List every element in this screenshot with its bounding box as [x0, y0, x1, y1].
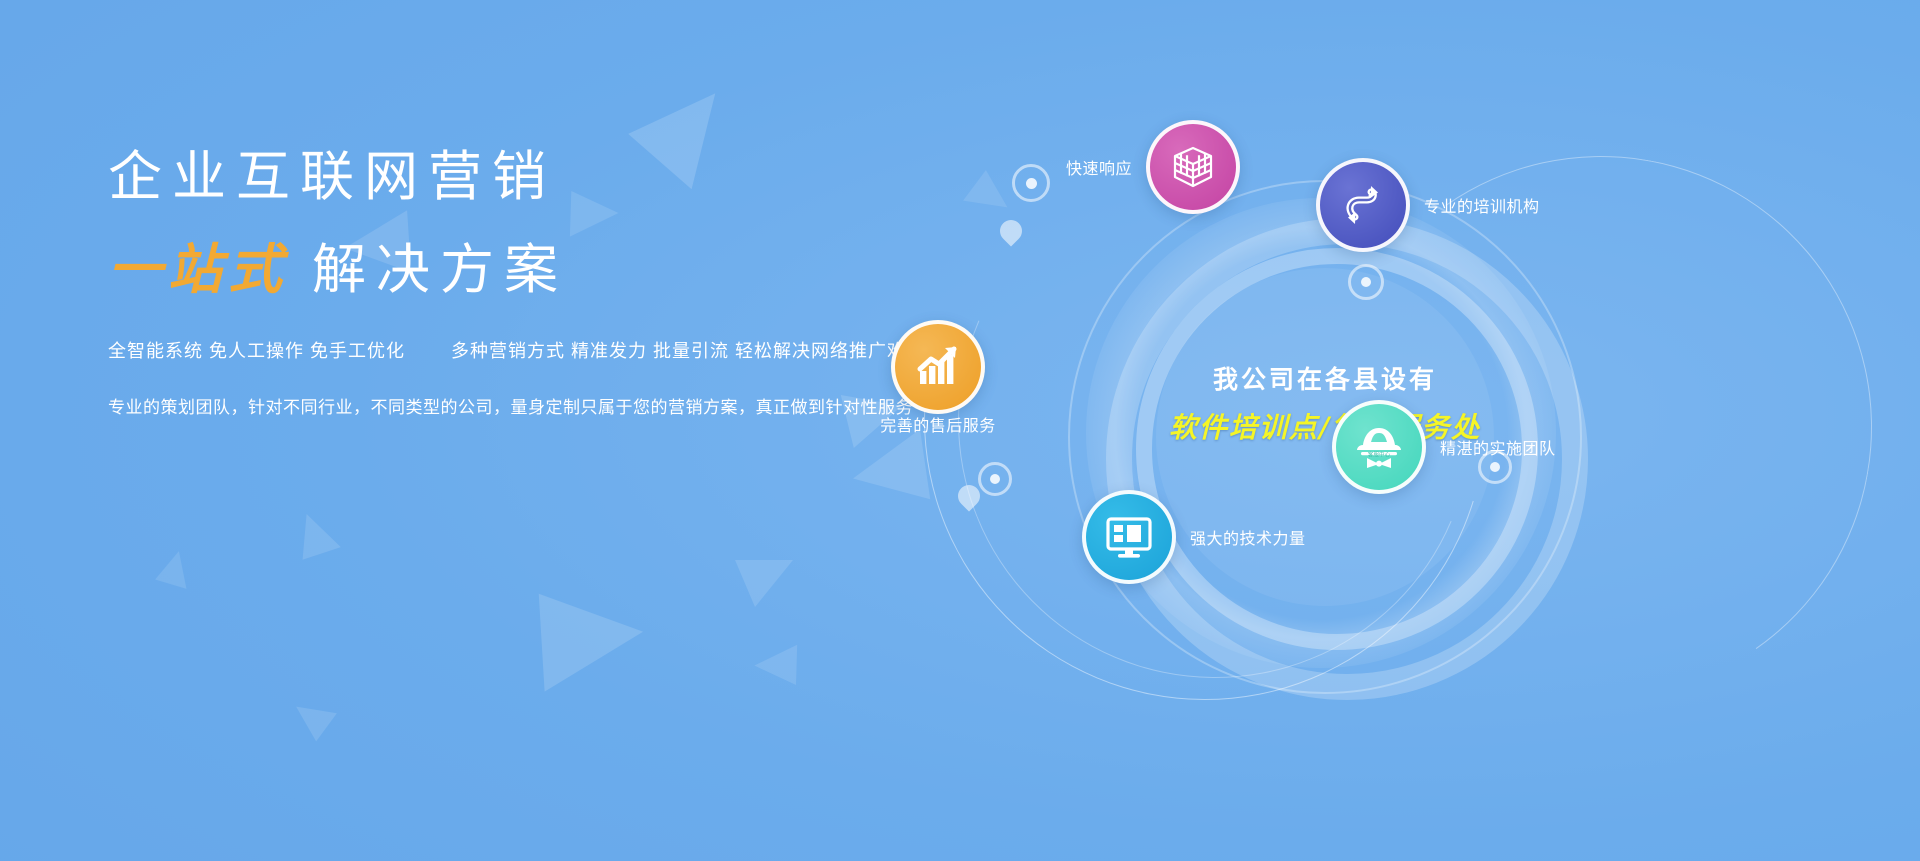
rubik-cube-icon[interactable]	[1146, 120, 1240, 214]
service-node-label: 专业的培训机构	[1424, 193, 1540, 217]
hero-copy: 企业互联网营销 一站式解决方案 全智能系统 免人工操作 免手工优化 多种营销方式…	[108, 150, 928, 418]
service-node-label: 快速响应	[1066, 155, 1132, 179]
svg-text:客服中心: 客服中心	[1368, 450, 1391, 458]
hero-description: 专业的策划团队，针对不同行业，不同类型的公司，量身定制只属于您的营销方案，真正做…	[108, 393, 928, 418]
decorative-triangle	[508, 594, 643, 717]
service-node-label: 强大的技术力量	[1190, 525, 1306, 549]
service-node-fast-response[interactable]: 快速响应	[1066, 120, 1240, 214]
service-node-label: 精湛的实施团队	[1440, 435, 1556, 459]
service-node-implementation-team[interactable]: 客服中心 精湛的实施团队	[1332, 400, 1556, 494]
centre-line-1: 我公司在各县设有	[1156, 360, 1494, 396]
ripple-marker-top	[1012, 164, 1050, 202]
service-node-label: 完善的售后服务	[880, 412, 996, 436]
hero-subtitle-accent: 一站式	[108, 237, 288, 301]
service-hat-icon[interactable]: 客服中心	[1332, 400, 1426, 494]
decorative-triangle	[735, 560, 793, 607]
decorative-triangle	[155, 551, 202, 599]
decorative-triangle	[754, 632, 811, 685]
decorative-triangle	[303, 514, 344, 563]
monitor-icon[interactable]	[1082, 490, 1176, 584]
hero-feature-right: 多种营销方式 精准发力 批量引流 轻松解决网络推广难题	[451, 341, 925, 361]
ripple-marker-bottom-left	[978, 462, 1012, 496]
service-ring-diagram: 我公司在各县设有 软件培训点/售后服务处 快速响应 专业的培训机构	[900, 60, 1910, 800]
page-title: 企业互联网营销	[108, 150, 928, 204]
service-node-training-org[interactable]: 专业的培训机构	[1316, 158, 1540, 252]
hero-subtitle: 一站式解决方案	[108, 242, 928, 297]
growth-chart-icon[interactable]	[891, 320, 985, 414]
hero-subtitle-plain: 解决方案	[312, 240, 568, 300]
hero-banner: 企业互联网营销 一站式解决方案 全智能系统 免人工操作 免手工优化 多种营销方式…	[0, 0, 1920, 861]
decorative-triangle	[296, 691, 344, 742]
service-node-after-sales[interactable]: 完善的售后服务	[891, 320, 985, 414]
s-arrow-icon[interactable]	[1316, 158, 1410, 252]
service-node-technical-power[interactable]: 强大的技术力量	[1082, 490, 1306, 584]
hero-feature-line: 全智能系统 免人工操作 免手工优化 多种营销方式 精准发力 批量引流 轻松解决网…	[108, 337, 928, 363]
hero-feature-left: 全智能系统 免人工操作 免手工优化	[108, 341, 405, 361]
ripple-marker-right-upper	[1348, 264, 1384, 300]
